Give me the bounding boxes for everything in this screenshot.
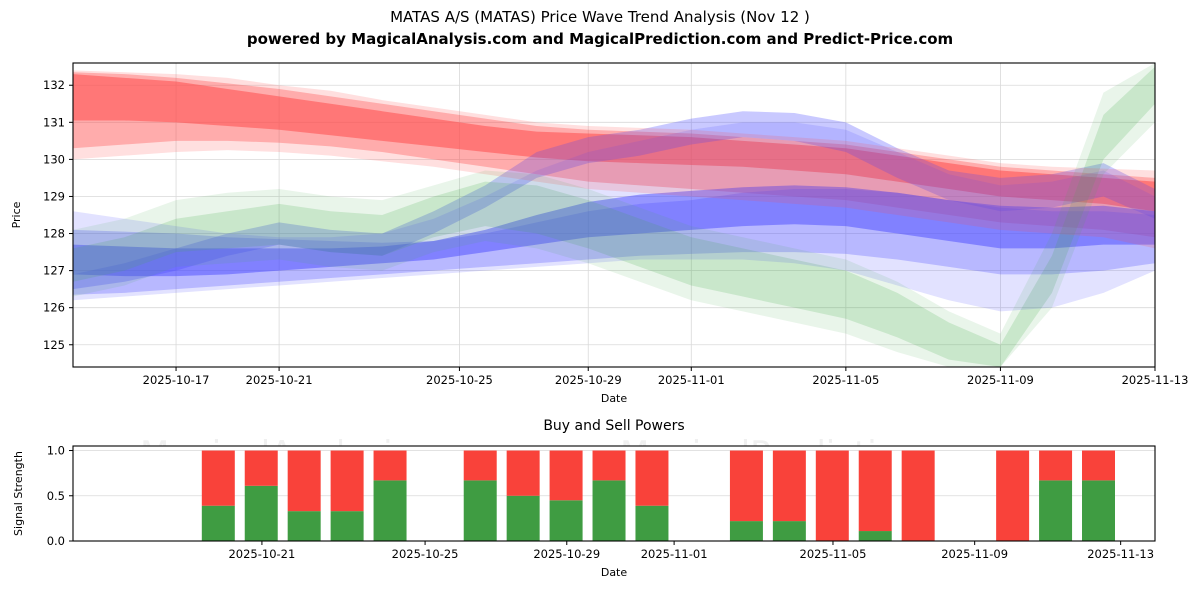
buy-power-bar: [593, 480, 626, 541]
sell-power-bar: [859, 451, 892, 532]
buy-power-bar: [1082, 480, 1115, 541]
power-bar-group: [593, 451, 626, 541]
price-xtick-label: 2025-11-05: [812, 373, 879, 387]
price-xtick-label: 2025-10-17: [143, 373, 210, 387]
buy-power-bar: [859, 531, 892, 541]
buy-power-bar: [245, 486, 278, 541]
sell-power-bar: [902, 451, 935, 541]
sell-power-bar: [288, 451, 321, 512]
buy-power-bar: [288, 511, 321, 541]
title-block: MATAS A/S (MATAS) Price Wave Trend Analy…: [0, 6, 1200, 50]
power-bar-group: [996, 451, 1029, 541]
power-bar-group: [331, 451, 364, 541]
price-ytick-label: 126: [43, 301, 65, 315]
sell-power-bar: [464, 451, 497, 481]
buy-power-bar: [331, 511, 364, 541]
buy-power-bar: [464, 480, 497, 541]
page-title: MATAS A/S (MATAS) Price Wave Trend Analy…: [0, 6, 1200, 28]
power-yaxis-label: Signal Strength: [12, 451, 25, 536]
sell-power-bar: [1082, 451, 1115, 481]
power-bar-group: [816, 451, 849, 541]
power-xtick-label: 2025-11-05: [800, 547, 867, 561]
price-yaxis-label: Price: [10, 201, 23, 228]
power-chart-title: Buy and Sell Powers: [543, 418, 684, 434]
power-bar-group: [730, 451, 763, 541]
power-bar-group: [773, 451, 806, 541]
power-bar-group: [245, 451, 278, 541]
price-ytick-label: 127: [43, 264, 65, 278]
power-xtick-label: 2025-11-01: [641, 547, 708, 561]
power-xaxis-label: Date: [601, 566, 628, 579]
sell-power-bar: [507, 451, 540, 496]
price-xtick-label: 2025-11-13: [1122, 373, 1189, 387]
sell-power-bar: [593, 451, 626, 481]
sell-power-bar: [550, 451, 583, 501]
sell-power-bar: [1039, 451, 1072, 481]
power-ytick-label: 1.0: [47, 444, 65, 458]
power-xtick-label: 2025-10-25: [392, 547, 459, 561]
page-subtitle: powered by MagicalAnalysis.com and Magic…: [0, 28, 1200, 50]
power-xtick-label: 2025-10-29: [533, 547, 600, 561]
sell-power-bar: [816, 451, 849, 541]
power-xtick-label: 2025-10-21: [228, 547, 295, 561]
buy-power-bar: [374, 480, 407, 541]
sell-power-bar: [202, 451, 235, 506]
price-ytick-label: 125: [43, 338, 65, 352]
power-bar-group: [374, 451, 407, 541]
buy-power-bar: [507, 496, 540, 541]
power-xtick-label: 2025-11-13: [1087, 547, 1154, 561]
price-ytick-label: 129: [43, 189, 65, 203]
buy-power-bar: [635, 506, 668, 541]
buy-power-bar: [773, 521, 806, 541]
price-ytick-label: 132: [43, 78, 65, 92]
price-ytick-label: 128: [43, 227, 65, 241]
power-bar-group: [507, 451, 540, 541]
price-ytick-label: 131: [43, 115, 65, 129]
charts-canvas: MagicalAnalysis.comMagicalPrediction.com…: [0, 0, 1200, 600]
power-bar-group: [550, 451, 583, 541]
power-bar-group: [1082, 451, 1115, 541]
power-bar-group: [635, 451, 668, 541]
sell-power-bar: [331, 451, 364, 512]
sell-power-bar: [730, 451, 763, 522]
price-xtick-label: 2025-11-09: [967, 373, 1034, 387]
sell-power-bar: [773, 451, 806, 522]
chart-page: MATAS A/S (MATAS) Price Wave Trend Analy…: [0, 0, 1200, 600]
power-bar-group: [859, 451, 892, 541]
price-xtick-label: 2025-10-25: [426, 373, 493, 387]
buy-power-bar: [202, 506, 235, 541]
power-bar-group: [202, 451, 235, 541]
power-ytick-label: 0.0: [47, 534, 65, 548]
price-xtick-label: 2025-10-21: [246, 373, 313, 387]
sell-power-bar: [635, 451, 668, 506]
price-xtick-label: 2025-11-01: [658, 373, 725, 387]
sell-power-bar: [996, 451, 1029, 541]
price-wave-trend-chart: 1251261271281291301311322025-10-172025-1…: [10, 63, 1188, 405]
sell-power-bar: [374, 451, 407, 481]
price-xaxis-label: Date: [601, 392, 628, 405]
price-ytick-label: 130: [43, 152, 65, 166]
power-bar-group: [902, 451, 935, 541]
power-xtick-label: 2025-11-09: [941, 547, 1008, 561]
power-bar-group: [464, 451, 497, 541]
price-xtick-label: 2025-10-29: [555, 373, 622, 387]
power-bar-group: [1039, 451, 1072, 541]
buy-power-bar: [1039, 480, 1072, 541]
power-bar-group: [288, 451, 321, 541]
buy-power-bar: [550, 500, 583, 541]
power-ytick-label: 0.5: [47, 489, 65, 503]
buy-power-bar: [730, 521, 763, 541]
sell-power-bar: [245, 451, 278, 486]
